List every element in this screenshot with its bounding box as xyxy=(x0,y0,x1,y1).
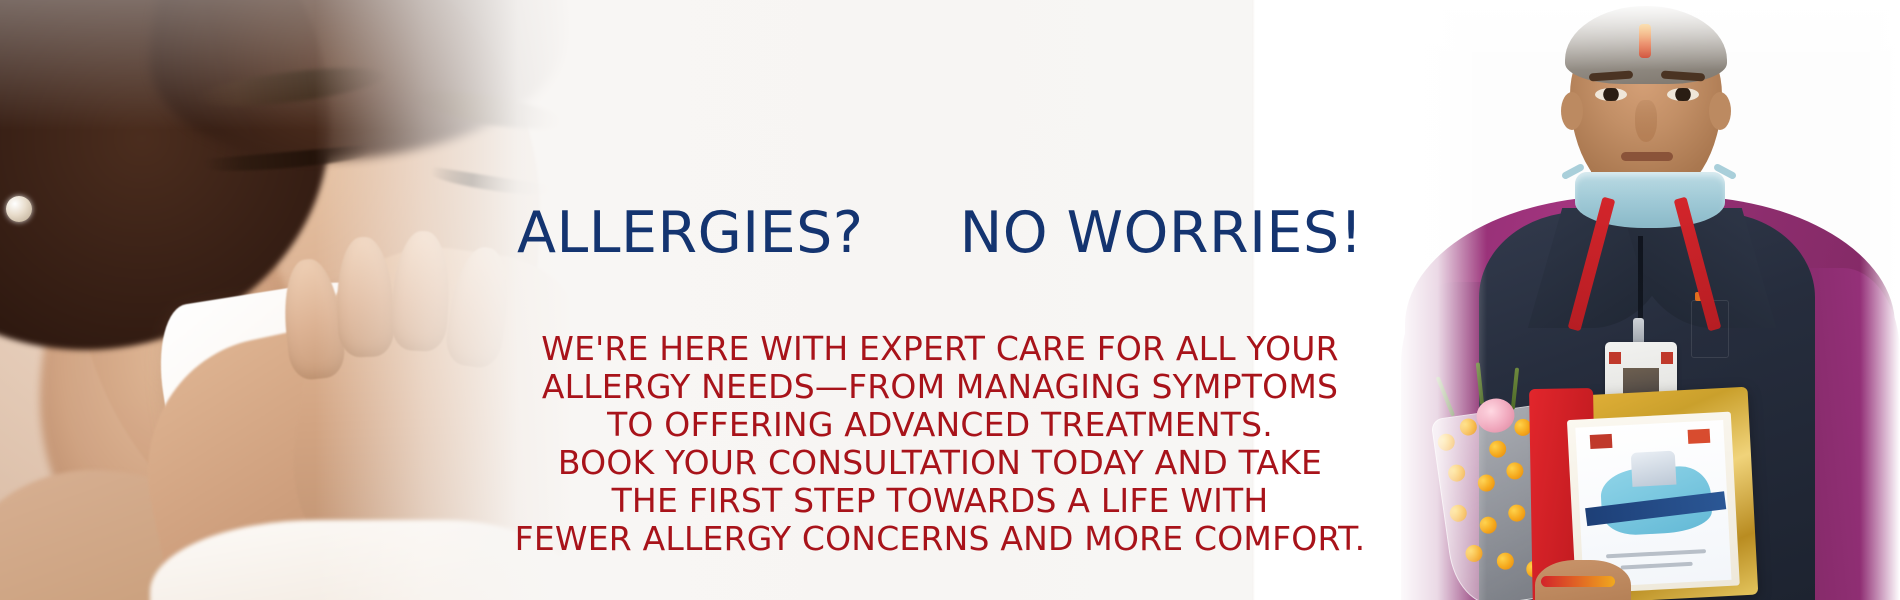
certificate-building-graphic xyxy=(1631,451,1677,487)
body-line: WE'RE HERE WITH EXPERT CARE FOR ALL YOUR xyxy=(470,330,1410,368)
allergy-care-banner: ALLERGIES? NO WORRIES! WE'RE HERE WITH E… xyxy=(0,0,1900,600)
body-line: ALLERGY NEEDS—FROM MANAGING SYMPTOMS xyxy=(470,368,1410,406)
man-eye-right xyxy=(1667,88,1699,101)
doctor-holding-award-photo xyxy=(1395,0,1900,600)
body-line: THE FIRST STEP TOWARDS A LIFE WITH xyxy=(470,482,1410,520)
certificate-logo-left xyxy=(1590,434,1613,449)
woman-earring xyxy=(6,196,32,222)
body-copy: WE'RE HERE WITH EXPERT CARE FOR ALL YOUR… xyxy=(470,330,1410,558)
headline-answer: NO WORRIES! xyxy=(960,205,1363,262)
id-badge-logo-right xyxy=(1661,352,1673,364)
man-mouth xyxy=(1621,152,1673,161)
man-eye-left xyxy=(1595,88,1627,101)
certificate-logo-right xyxy=(1688,429,1711,444)
bouquet-stem xyxy=(1511,368,1519,410)
certificate-text-line xyxy=(1606,549,1706,558)
body-line: BOOK YOUR CONSULTATION TODAY AND TAKE xyxy=(470,444,1410,482)
body-line: FEWER ALLERGY CONCERNS AND MORE COMFORT. xyxy=(470,520,1410,558)
kalava-wrist-thread xyxy=(1541,576,1615,587)
headline: ALLERGIES? NO WORRIES! xyxy=(470,205,1410,262)
man-ear-left xyxy=(1561,92,1583,130)
body-line: TO OFFERING ADVANCED TREATMENTS. xyxy=(470,406,1410,444)
banner-copy: ALLERGIES? NO WORRIES! WE'RE HERE WITH E… xyxy=(470,0,1410,600)
man-ear-right xyxy=(1709,92,1731,130)
photo-right-right-fade xyxy=(1860,0,1900,600)
certificate-text-line xyxy=(1621,562,1693,570)
id-badge-logo-left xyxy=(1609,352,1621,364)
headline-question: ALLERGIES? xyxy=(517,205,864,262)
man-nose xyxy=(1635,100,1657,142)
